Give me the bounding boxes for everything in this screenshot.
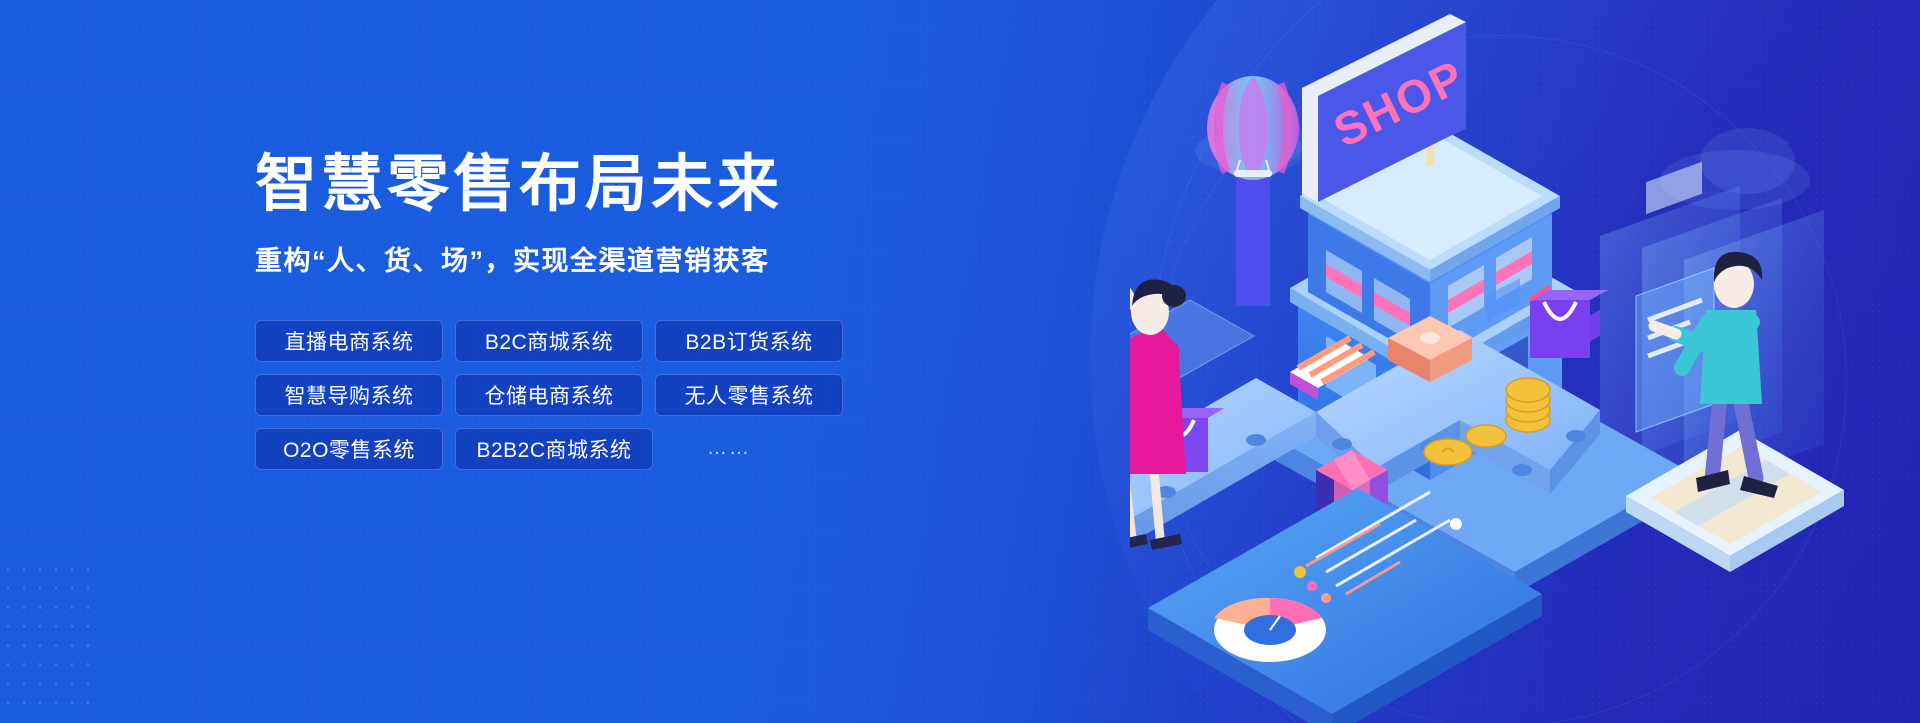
- product-tag-row: O2O零售系统 B2B2C商城系统 ……: [255, 428, 895, 470]
- product-tag-live-commerce[interactable]: 直播电商系统: [255, 320, 443, 362]
- product-tag-grid: 直播电商系统 B2C商城系统 B2B订货系统 智慧导购系统 仓储电商系统 无人零…: [255, 320, 895, 470]
- more-indicator: ……: [665, 437, 751, 460]
- product-tag-b2b2c-mall[interactable]: B2B2C商城系统: [455, 428, 653, 470]
- product-tag-b2b-ordering[interactable]: B2B订货系统: [655, 320, 843, 362]
- smart-retail-illustration: SHOP: [1130, 0, 1920, 723]
- product-tag-row: 直播电商系统 B2C商城系统 B2B订货系统: [255, 320, 895, 362]
- product-tag-row: 智慧导购系统 仓储电商系统 无人零售系统: [255, 374, 895, 416]
- banner-subheadline: 重构“人、货、场”，实现全渠道营销获客: [255, 239, 895, 278]
- sparkle-dots: [0, 560, 90, 710]
- product-tag-warehouse-commerce[interactable]: 仓储电商系统: [455, 374, 643, 416]
- product-tag-b2c-mall[interactable]: B2C商城系统: [455, 320, 643, 362]
- product-tag-smart-guide[interactable]: 智慧导购系统: [255, 374, 443, 416]
- hot-air-balloon-icon: [1207, 76, 1299, 306]
- banner-headline: 智慧零售布局未来: [255, 150, 895, 221]
- product-tag-o2o-retail[interactable]: O2O零售系统: [255, 428, 443, 470]
- hero-banner: 智慧零售布局未来 重构“人、货、场”，实现全渠道营销获客 直播电商系统 B2C商…: [0, 0, 1920, 723]
- product-tag-unmanned-retail[interactable]: 无人零售系统: [655, 374, 843, 416]
- banner-content: 智慧零售布局未来 重构“人、货、场”，实现全渠道营销获客 直播电商系统 B2C商…: [255, 150, 895, 470]
- donut-chart: [1214, 598, 1326, 662]
